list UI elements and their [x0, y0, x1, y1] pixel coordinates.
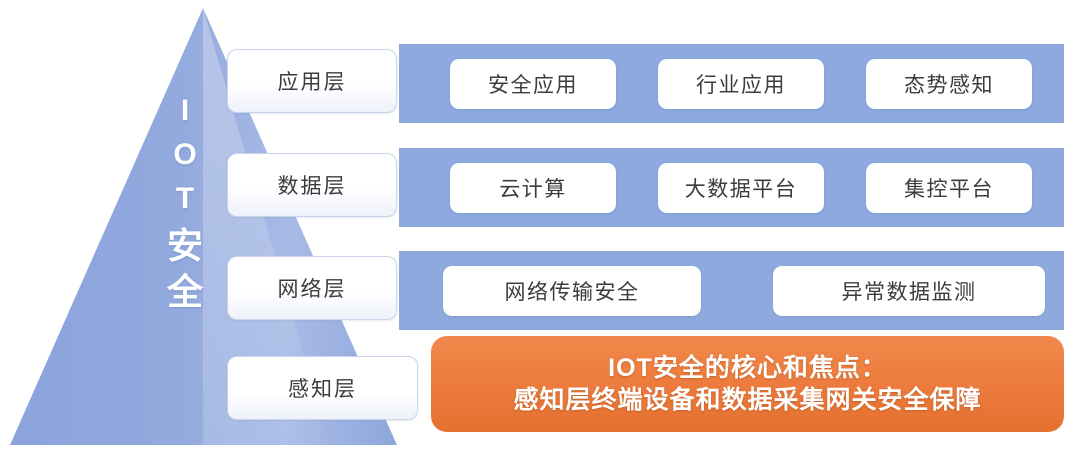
layer-item-chip[interactable]: 异常数据监测: [773, 266, 1045, 316]
core-focus-banner: IOT安全的核心和焦点： 感知层终端设备和数据采集网关安全保障: [431, 336, 1064, 432]
layer-band-network: 网络传输安全 异常数据监测: [399, 251, 1064, 330]
layer-item-chip[interactable]: 态势感知: [866, 59, 1032, 109]
layer-item-chip[interactable]: 云计算: [450, 163, 616, 213]
layer-name-application[interactable]: 应用层: [227, 49, 397, 113]
layer-name-data[interactable]: 数据层: [227, 153, 397, 217]
layer-item-chip[interactable]: 网络传输安全: [443, 266, 701, 316]
layer-band-application: 安全应用 行业应用 态势感知: [399, 44, 1064, 123]
layer-item-chip[interactable]: 大数据平台: [658, 163, 824, 213]
layer-item-chip[interactable]: 安全应用: [450, 59, 616, 109]
layer-name-network[interactable]: 网络层: [227, 256, 397, 320]
layer-band-data: 云计算 大数据平台 集控平台: [399, 148, 1064, 227]
core-focus-banner-line-1: IOT安全的核心和焦点：: [608, 352, 887, 385]
iot-security-architecture-diagram: I O T 安 全 安全应用 行业应用 态势感知 应用层 云计算 大数据平台 集…: [0, 0, 1080, 461]
layer-name-perception[interactable]: 感知层: [227, 356, 418, 420]
layer-item-chip[interactable]: 集控平台: [866, 163, 1032, 213]
layer-item-chip[interactable]: 行业应用: [658, 59, 824, 109]
core-focus-banner-line-2: 感知层终端设备和数据采集网关安全保障: [513, 384, 981, 417]
